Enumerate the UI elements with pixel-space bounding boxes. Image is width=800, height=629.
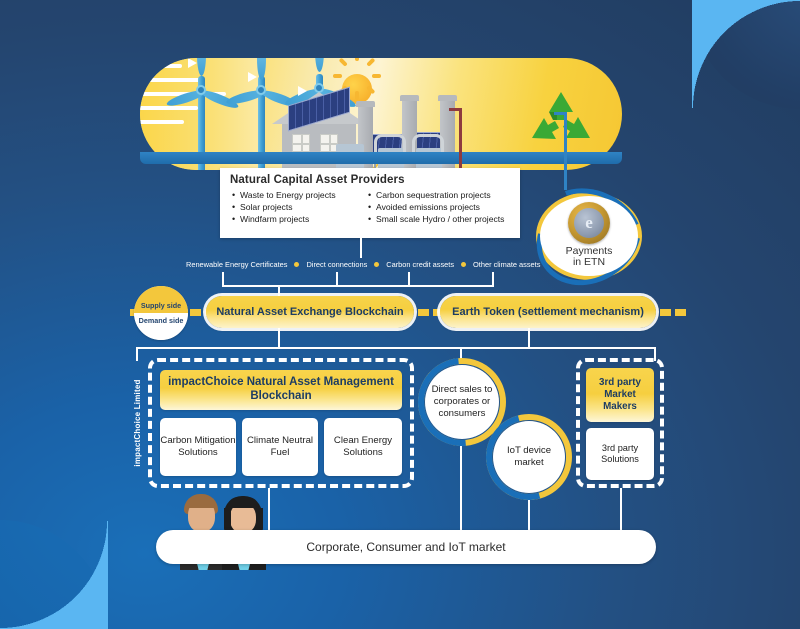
natural-capital-asset-providers-card: Natural Capital Asset Providers Waste to… <box>220 168 520 238</box>
asset-label: Other climate assets <box>473 260 540 269</box>
separator-dot-icon <box>374 262 379 267</box>
blue-pipe-icon <box>564 112 567 190</box>
coin-symbol: e <box>574 208 604 238</box>
connector-line <box>620 488 622 532</box>
connector-line <box>360 238 362 258</box>
card-label: Clean Energy Solutions <box>324 435 402 459</box>
asset-label: Direct connections <box>306 260 367 269</box>
pill-label: Natural Asset Exchange Blockchain <box>216 306 403 318</box>
card-climate-neutral-fuel[interactable]: Climate Neutral Fuel <box>242 418 318 476</box>
blue-pipe-bend-icon <box>554 112 567 115</box>
corner-decoration-top-right <box>691 0 800 109</box>
supply-side-label: Supply side <box>134 286 188 313</box>
diagram-canvas: Natural Capital Asset Providers Waste to… <box>0 0 800 629</box>
corner-decoration-bottom-left <box>0 520 109 629</box>
etn-coin-icon: e <box>568 202 610 244</box>
recycle-icon <box>528 90 594 150</box>
separator-dot-icon <box>294 262 299 267</box>
providers-list-right: Carbon sequestration projects Avoided em… <box>368 189 504 226</box>
card-label: Climate Neutral Fuel <box>242 435 318 459</box>
pill-label: Earth Token (settlement mechanism) <box>452 306 644 318</box>
iot-device-market-circle[interactable]: IoT device market <box>486 414 572 500</box>
connector-line <box>222 272 224 286</box>
pill-trailing-dashes <box>660 309 686 316</box>
payments-label-line2: in ETN <box>566 257 613 268</box>
payments-label: Payments in ETN <box>566 246 613 269</box>
connector-line <box>278 328 280 348</box>
earth-token-pill[interactable]: Earth Token (settlement mechanism) <box>440 296 656 328</box>
connector-line <box>268 488 270 532</box>
circle-label: IoT device market <box>493 445 565 469</box>
connector-line <box>222 285 494 287</box>
list-item: Carbon sequestration projects <box>368 189 504 201</box>
providers-title: Natural Capital Asset Providers <box>220 168 520 189</box>
card-label: 3rd party Solutions <box>586 443 654 466</box>
connector-line <box>528 500 530 532</box>
card-third-party-solutions[interactable]: 3rd party Solutions <box>586 428 654 480</box>
card-clean-energy-solutions[interactable]: Clean Energy Solutions <box>324 418 402 476</box>
asset-type-labels: Renewable Energy Certificates Direct con… <box>186 258 546 270</box>
list-item: Avoided emissions projects <box>368 201 504 213</box>
impactchoice-blockchain-label: impactChoice Natural Asset Management Bl… <box>160 376 402 403</box>
list-item: Small scale Hydro / other projects <box>368 213 504 225</box>
list-item: Windfarm projects <box>232 213 360 225</box>
list-item: Waste to Energy projects <box>232 189 360 201</box>
connector-line <box>460 446 462 532</box>
red-pipe-bend-icon <box>449 108 462 111</box>
card-label: 3rd party Market Makers <box>586 377 654 412</box>
connector-bus <box>136 347 656 349</box>
supply-demand-indicator: Supply side Demand side <box>134 286 188 340</box>
card-label: Carbon Mitigation Solutions <box>160 435 236 459</box>
banner-base-strip <box>140 152 622 164</box>
wind-arrow-icon <box>188 58 197 68</box>
connector-line <box>336 272 338 286</box>
connector-line <box>528 328 530 347</box>
bottom-bar-label: Corporate, Consumer and IoT market <box>306 540 505 554</box>
card-carbon-mitigation-solutions[interactable]: Carbon Mitigation Solutions <box>160 418 236 476</box>
demand-side-label: Demand side <box>134 313 188 340</box>
impactchoice-blockchain-header[interactable]: impactChoice Natural Asset Management Bl… <box>160 370 402 410</box>
impactchoice-limited-label: impactChoice Limited <box>130 358 144 488</box>
separator-dot-icon <box>461 262 466 267</box>
card-third-party-market-makers[interactable]: 3rd party Market Makers <box>586 368 654 422</box>
list-item: Solar projects <box>232 201 360 213</box>
corporate-consumer-iot-market-bar[interactable]: Corporate, Consumer and IoT market <box>156 530 656 564</box>
connector-line <box>408 272 410 286</box>
wind-arrow-icon <box>248 72 257 82</box>
providers-list-left: Waste to Energy projects Solar projects … <box>232 189 360 226</box>
asset-label: Renewable Energy Certificates <box>186 260 287 269</box>
natural-asset-exchange-blockchain-pill[interactable]: Natural Asset Exchange Blockchain <box>206 296 414 328</box>
connector-line <box>492 272 494 286</box>
payments-in-etn-badge: e Payments in ETN <box>534 190 644 282</box>
asset-label: Carbon credit assets <box>386 260 454 269</box>
